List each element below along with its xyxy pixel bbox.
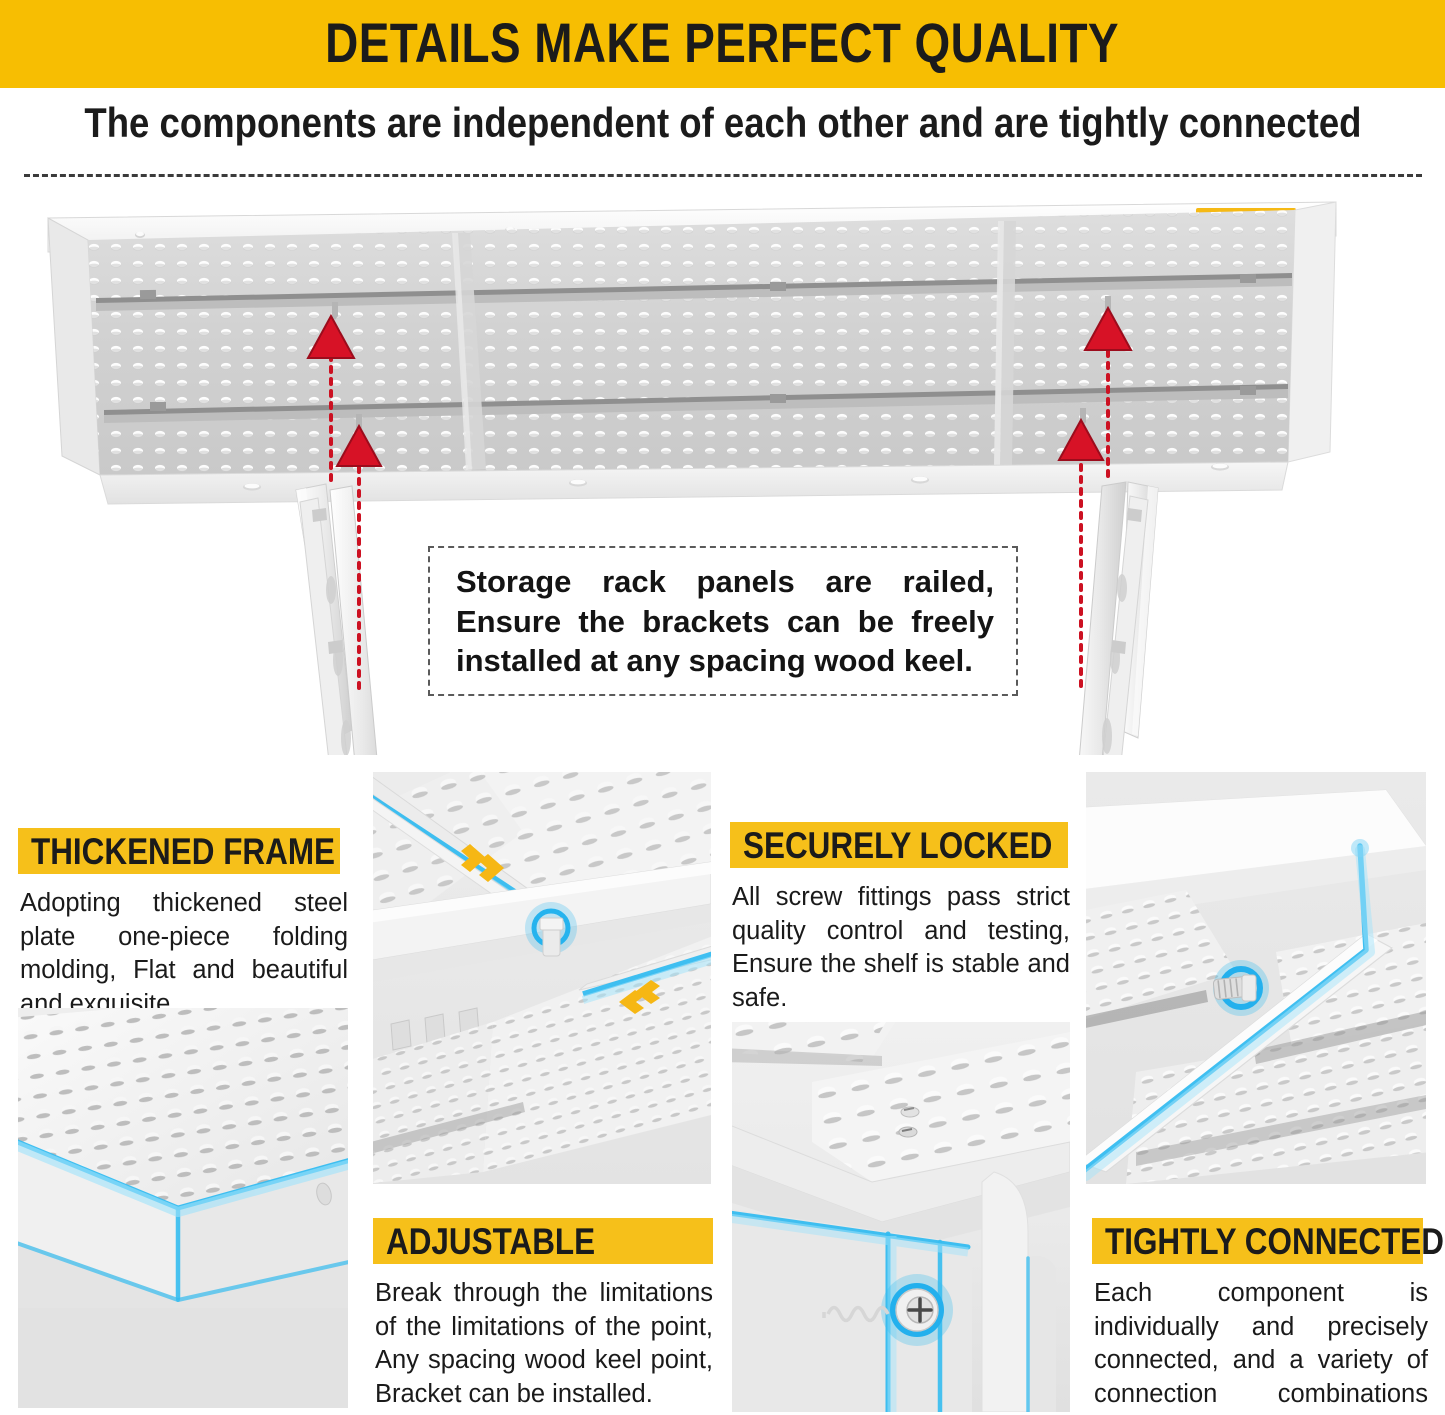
feature-image-tightly-connected xyxy=(1086,772,1426,1184)
infographic-page: DETAILS MAKE PERFECT QUALITY The compone… xyxy=(0,0,1445,1415)
feature-image-thickened-frame xyxy=(18,1008,348,1408)
dashed-divider xyxy=(24,174,1422,177)
feature-adjustable: ADJUSTABLE Break through the limitations… xyxy=(373,1218,713,1412)
feature-body-2: Break through the limitations of the lim… xyxy=(373,1277,713,1412)
highlighted-screw xyxy=(881,1274,953,1346)
feature-title-band-4: TIGHTLY CONNECTED xyxy=(1092,1218,1423,1264)
bracket-post-shadow xyxy=(1028,1256,1056,1412)
feature-body-3: All screw fittings pass strict quality c… xyxy=(730,881,1070,1016)
bolt-head xyxy=(1242,975,1256,1001)
feature-title-4: TIGHTLY CONNECTED xyxy=(1105,1223,1444,1260)
feature-image-securely-locked xyxy=(732,1022,1070,1412)
feature-title-1: THICKENED FRAME xyxy=(31,833,335,870)
subtitle-wrap: The components are independent of each o… xyxy=(0,92,1445,154)
feature-tightly-connected: TIGHTLY CONNECTED Each component is indi… xyxy=(1092,1218,1428,1415)
feature-title-3: SECURELY LOCKED xyxy=(743,827,1052,864)
feature-title-band-3: SECURELY LOCKED xyxy=(730,822,1068,868)
shelf-right-edge xyxy=(1288,202,1336,462)
highlighted-bolt xyxy=(1213,960,1269,1016)
feature-image-adjustable xyxy=(373,772,711,1184)
cyan-glow-dot xyxy=(1351,839,1369,857)
feature-securely-locked: SECURELY LOCKED All screw fittings pass … xyxy=(730,822,1070,1016)
bracket-right xyxy=(1068,482,1158,755)
callout-line-1: Storage rack panels are railed, xyxy=(456,562,994,602)
screw-hole xyxy=(899,1127,917,1137)
feature-thickened-frame: THICKENED FRAME Adopting thickened steel… xyxy=(18,828,348,1022)
bracket-post xyxy=(982,1172,1028,1412)
header-banner: DETAILS MAKE PERFECT QUALITY xyxy=(0,0,1445,88)
feature-title-band-1: THICKENED FRAME xyxy=(18,828,340,874)
feature-title-band-2: ADJUSTABLE xyxy=(373,1218,713,1264)
feature-title-2: ADJUSTABLE xyxy=(386,1223,595,1260)
callout-box: Storage rack panels are railed, Ensure t… xyxy=(428,546,1018,696)
feature-body-4: Each component is individually and preci… xyxy=(1092,1277,1428,1415)
callout-line-2: Ensure the brackets can be freely xyxy=(456,602,994,642)
page-title: DETAILS MAKE PERFECT QUALITY xyxy=(326,15,1120,74)
page-subtitle: The components are independent of each o… xyxy=(84,102,1361,144)
bracket-left xyxy=(296,484,390,755)
callout-line-3: installed at any spacing wood keel. xyxy=(456,641,994,681)
feature-body-1: Adopting thickened steel plate one-piece… xyxy=(18,887,348,1022)
